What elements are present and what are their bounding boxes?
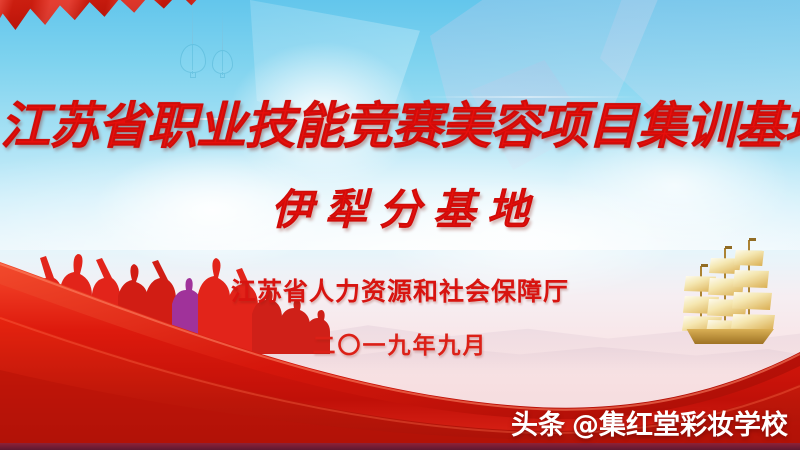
watermark: 头条@集红堂彩妆学校 (511, 403, 788, 442)
page-subtitle: 伊犁分基地 (0, 176, 800, 237)
watermark-platform: 头条 (511, 410, 565, 441)
organization-name: 江苏省人力资源和社会保障厅 (0, 272, 800, 308)
hot-air-balloon-icon (212, 50, 231, 78)
hot-air-balloon-icon (180, 44, 204, 78)
page-title: 江苏省职业技能竞赛美容项目集训基地 (0, 86, 800, 158)
date-text: 二〇一九年九月 (0, 326, 800, 360)
balloon-tether (222, 8, 223, 50)
bottom-edge-strip (0, 443, 800, 450)
watermark-account: @集红堂彩妆学校 (572, 410, 788, 441)
poster-canvas: 江苏省职业技能竞赛美容项目集训基地 伊犁分基地 江苏省人力资源和社会保障厅 二〇… (0, 0, 800, 450)
balloon-tether (192, 0, 193, 44)
